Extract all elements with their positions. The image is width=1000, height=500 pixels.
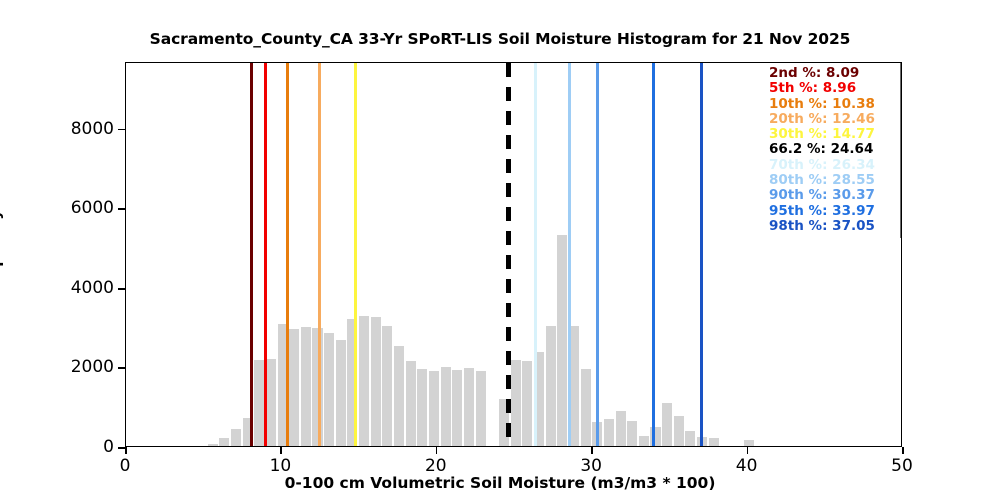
y-axis-tick [118, 129, 125, 131]
histogram-bar [231, 429, 241, 446]
y-axis-tick [118, 447, 125, 449]
percentile-line [286, 63, 289, 446]
x-axis-tick-label: 10 [270, 456, 292, 476]
percentile-line [568, 63, 571, 446]
y-axis-tick-label: 0 [103, 437, 114, 457]
y-axis-tick-label: 6000 [71, 198, 114, 218]
x-axis-tick-label: 40 [736, 456, 758, 476]
histogram-bar [627, 421, 637, 446]
histogram-bar [557, 235, 567, 446]
histogram-bar [452, 370, 462, 446]
legend-entry: 98th %: 37.05 [769, 219, 900, 234]
legend-entry: 30th %: 14.77 [769, 127, 900, 142]
histogram-bar [394, 346, 404, 446]
histogram-bar [441, 367, 451, 446]
x-axis-title: 0-100 cm Volumetric Soil Moisture (m3/m3… [0, 474, 1000, 492]
y-axis-tick [118, 367, 125, 369]
histogram-bar [581, 369, 591, 446]
x-axis-tick [280, 447, 282, 454]
histogram-bar [522, 361, 532, 447]
x-axis-tick-label: 0 [120, 456, 131, 476]
legend-entry: 90th %: 30.37 [769, 188, 900, 203]
percentile-legend: 2nd %: 8.095th %: 8.9610th %: 10.3820th … [763, 63, 901, 238]
histogram-bar [382, 326, 392, 447]
histogram-bar [336, 340, 346, 446]
y-axis-tick [118, 288, 125, 290]
x-axis-tick-label: 20 [425, 456, 447, 476]
histogram-bar [604, 419, 614, 446]
histogram-bar [674, 416, 684, 446]
y-axis-tick-label: 4000 [71, 278, 114, 298]
histogram-figure: Sacramento_County_CA 33-Yr SPoRT-LIS Soi… [0, 0, 1000, 500]
y-axis-tick-label: 2000 [71, 357, 114, 377]
x-axis-tick-label: 50 [891, 456, 913, 476]
x-axis-tick-label: 30 [580, 456, 602, 476]
legend-entry: 5th %: 8.96 [769, 81, 900, 96]
histogram-bar [371, 317, 381, 446]
x-axis-tick [902, 447, 904, 454]
percentile-line [506, 63, 511, 446]
percentile-line [596, 63, 599, 446]
histogram-bar [324, 333, 334, 446]
page-title: Sacramento_County_CA 33-Yr SPoRT-LIS Soi… [0, 30, 1000, 48]
legend-entry: 80th %: 28.55 [769, 173, 900, 188]
x-axis-tick [436, 447, 438, 454]
legend-entry: 20th %: 12.46 [769, 112, 900, 127]
histogram-bar [301, 327, 311, 446]
legend-entry: 2nd %: 8.09 [769, 66, 900, 81]
y-axis-title: Frequency [0, 210, 4, 301]
x-axis-tick [747, 447, 749, 454]
histogram-bar [616, 411, 626, 446]
histogram-bar [639, 436, 649, 446]
legend-entry: 66.2 %: 24.64 [769, 142, 900, 157]
histogram-bar [511, 360, 521, 446]
percentile-line [264, 63, 267, 446]
histogram-bar [289, 329, 299, 446]
histogram-bar [266, 359, 276, 446]
x-axis-tick [125, 447, 127, 454]
histogram-bar [662, 403, 672, 446]
legend-entry: 10th %: 10.38 [769, 97, 900, 112]
histogram-bar [546, 326, 556, 447]
histogram-bar [417, 369, 427, 446]
histogram-bar [208, 444, 218, 446]
legend-entry: 70th %: 26.34 [769, 158, 900, 173]
histogram-bar [744, 440, 754, 446]
y-axis-tick-label: 8000 [71, 119, 114, 139]
histogram-bar [359, 316, 369, 446]
percentile-line [354, 63, 357, 446]
percentile-line [534, 63, 537, 446]
percentile-line [318, 63, 321, 446]
y-axis-tick [118, 208, 125, 210]
histogram-bar [429, 371, 439, 446]
histogram-bar [685, 431, 695, 447]
histogram-bar [709, 438, 719, 446]
percentile-line [700, 63, 703, 446]
percentile-line [652, 63, 655, 446]
histogram-bar [464, 368, 474, 446]
histogram-bar [406, 361, 416, 446]
x-axis-tick [591, 447, 593, 454]
histogram-bar [219, 438, 229, 446]
legend-entry: 95th %: 33.97 [769, 204, 900, 219]
histogram-bar [254, 360, 264, 446]
histogram-bar [476, 371, 486, 446]
percentile-line [250, 63, 253, 446]
